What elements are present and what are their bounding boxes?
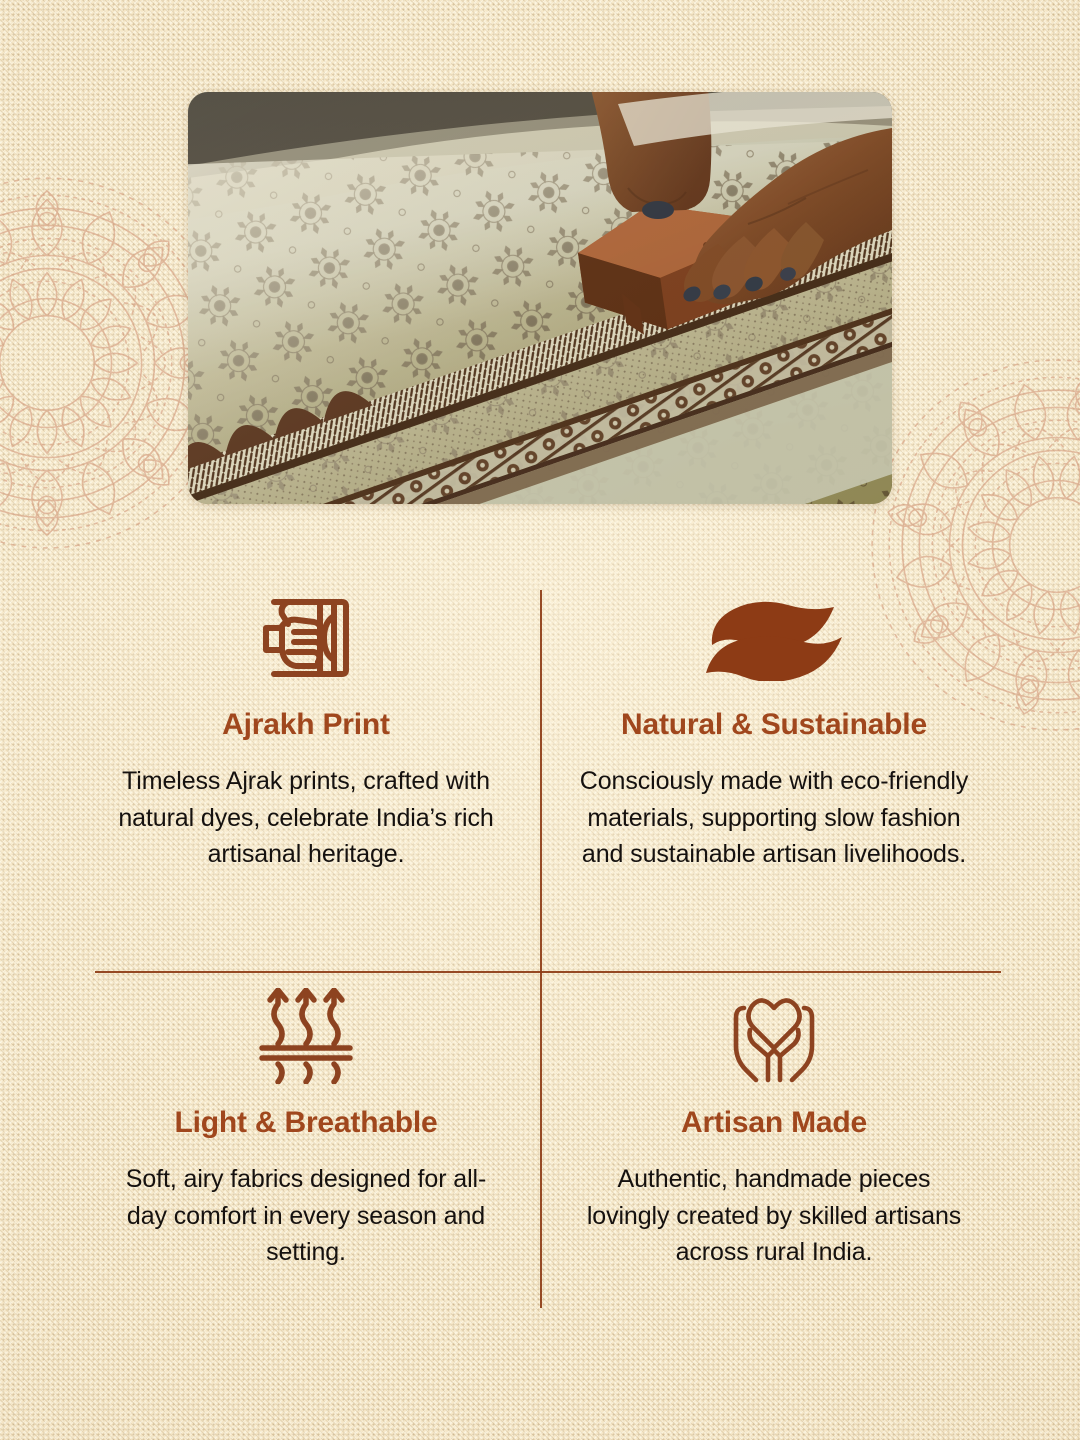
feature-grid: Ajrakh Print Timeless Ajrak prints, craf… (72, 586, 1008, 1326)
feature-card-natural-sustainable: Natural & Sustainable Consciously made w… (540, 586, 1008, 873)
hands-holding-heart-icon (574, 984, 974, 1088)
feature-title: Artisan Made (574, 1106, 974, 1139)
feature-card-artisan-made: Artisan Made Authentic, handmade pieces … (540, 984, 1008, 1271)
leaf-icon (566, 586, 982, 690)
feature-title: Ajrakh Print (100, 708, 512, 741)
feature-card-ajrakh-print: Ajrakh Print Timeless Ajrak prints, craf… (72, 586, 540, 873)
poster-canvas: Ajrakh Print Timeless Ajrak prints, craf… (0, 0, 1080, 1440)
feature-description: Consciously made with eco-friendly mater… (566, 763, 982, 873)
hand-block-stamp-icon (100, 586, 512, 690)
breathable-airflow-icon (106, 984, 506, 1088)
feature-title: Natural & Sustainable (566, 708, 982, 741)
feature-description: Authentic, handmade pieces lovingly crea… (574, 1161, 974, 1271)
feature-description: Timeless Ajrak prints, crafted with natu… (100, 763, 512, 873)
feature-title: Light & Breathable (106, 1106, 506, 1139)
feature-card-light-breathable: Light & Breathable Soft, airy fabrics de… (72, 984, 540, 1271)
feature-description: Soft, airy fabrics designed for all-day … (106, 1161, 506, 1271)
ajrakh-block-printing-photo (188, 92, 892, 504)
horizontal-divider (95, 971, 1001, 973)
